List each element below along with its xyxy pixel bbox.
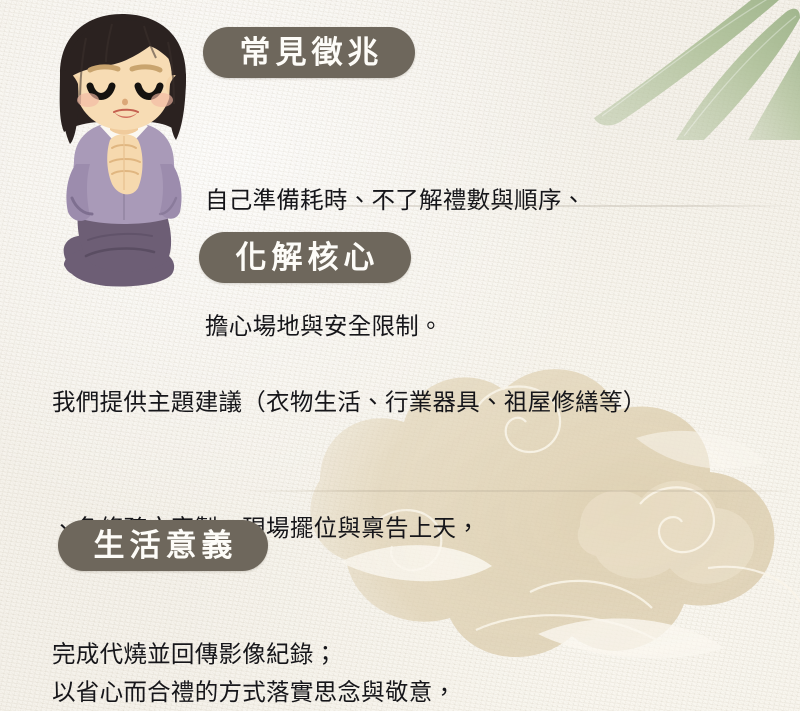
kneeling-praying-woman-illustration [26,12,216,302]
bamboo-leaf-decor-icon [580,0,800,140]
body-line: 我們提供主題建議（衣物生活、行業器具、祖屋修繕等） [52,381,647,423]
section-badge-common-signs[interactable]: 常見徵兆 [203,27,415,78]
section-badge-core-solution[interactable]: 化解核心 [199,232,411,283]
infographic-canvas: 常見徵兆 自己準備耗時、不了解禮數與順序、 擔心場地與安全限制。 化解核心 我們… [0,0,800,711]
section-body-life-meaning: 以省心而合禮的方式落實思念與敬意， 讓「該做到的禮數」被妥善完成、安心可憑。 [52,587,528,711]
body-line: 以省心而合禮的方式落實思念與敬意， [52,671,528,711]
section-badge-life-meaning[interactable]: 生活意義 [58,520,268,571]
body-line: 自己準備耗時、不了解禮數與順序、 [205,179,586,221]
